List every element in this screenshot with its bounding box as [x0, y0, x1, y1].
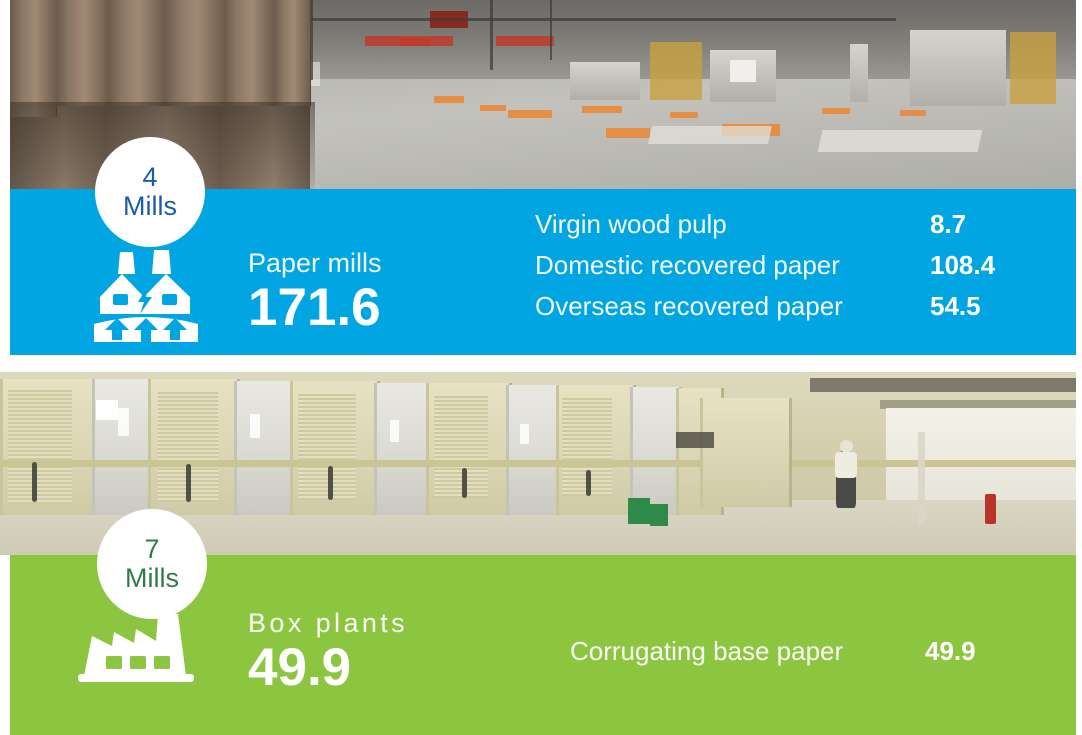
- cabinet-grille: [298, 394, 356, 500]
- stat-name: Overseas recovered paper: [535, 291, 930, 322]
- paper-roll-1: [10, 0, 57, 117]
- box-plants-headline: Box plants 49.9: [248, 608, 408, 694]
- machine-far-right: [910, 30, 1006, 106]
- cabinet-label: [118, 408, 129, 436]
- stat-value: 54.5: [930, 291, 1050, 322]
- machine-column: [850, 44, 868, 102]
- box-plants-badge: 7 Mills: [97, 509, 207, 619]
- cabinet-grille: [8, 390, 72, 503]
- paper-roll-4: [164, 0, 225, 106]
- paper-roll-2: [56, 0, 109, 106]
- wall-post: [918, 432, 925, 524]
- stat-row: Corrugating base paper 49.9: [570, 636, 1045, 676]
- floor-marker-2: [480, 105, 506, 111]
- stat-row: Overseas recovered paper 54.5: [535, 291, 1050, 332]
- roof-truss-2: [490, 0, 493, 70]
- machine-cabinet: [234, 381, 296, 515]
- cabinet-label: [250, 414, 260, 438]
- stat-value: 108.4: [930, 250, 1050, 281]
- stat-name: Corrugating base paper: [570, 636, 925, 667]
- paper-mills-headline: Paper mills 171.6: [248, 248, 382, 334]
- stat-row: Virgin wood pulp 8.7: [535, 209, 1050, 250]
- paper-roll-6: [274, 0, 311, 106]
- fire-extinguisher: [985, 494, 996, 524]
- control-box: [96, 400, 118, 420]
- machine-center: [570, 62, 640, 100]
- headline-label: Paper mills: [248, 248, 382, 279]
- paper-roll-3: [108, 0, 165, 106]
- badge-unit: Mills: [123, 192, 177, 221]
- section-box-plants: 7 Mills Box plants 49.9 Corrugati: [0, 372, 1076, 735]
- floor-marker-9: [900, 110, 926, 116]
- paper-mill-factory-icon: [90, 250, 202, 342]
- box-plants-stats: Corrugating base paper 49.9: [570, 636, 1045, 676]
- stat-name: Domestic recovered paper: [535, 250, 930, 281]
- paper-mills-stats: Virgin wood pulp 8.7 Domestic recovered …: [535, 209, 1050, 332]
- control-hose: [586, 470, 591, 496]
- machine-panel: [730, 60, 756, 82]
- headline-value: 171.6: [248, 281, 382, 334]
- machine-yellow-frame-2: [1010, 32, 1056, 104]
- section-paper-mills: 4 Mills: [0, 0, 1076, 355]
- floor-marker-5: [606, 128, 650, 138]
- machine-cabinet: [506, 385, 562, 515]
- floor-marker-1: [434, 96, 464, 103]
- machine-cabinet: [374, 383, 432, 515]
- stat-name: Virgin wood pulp: [535, 209, 930, 240]
- stat-row: Domestic recovered paper 108.4: [535, 250, 1050, 291]
- machine-cabinet: [630, 387, 682, 515]
- control-hose: [462, 468, 467, 498]
- badge-count: 4: [142, 163, 157, 192]
- machine-rail: [0, 460, 1076, 467]
- cabinet-label: [520, 424, 529, 444]
- machine-yellow-frame: [650, 42, 702, 100]
- stat-value: 49.9: [925, 636, 1045, 667]
- control-hose: [32, 462, 37, 502]
- green-bin: [628, 498, 650, 524]
- floor-marker-4: [582, 106, 622, 113]
- floor-pallet-2: [818, 130, 983, 152]
- red-banner-right: [496, 36, 554, 46]
- cabinet-grille: [434, 396, 488, 498]
- ceiling-beam: [810, 378, 1076, 392]
- headline-label: Box plants: [248, 608, 408, 639]
- green-bin: [650, 504, 668, 526]
- infographic-root: 4 Mills: [0, 0, 1082, 735]
- box-plant-factory-icon: [78, 610, 202, 682]
- floor-marker-8: [822, 108, 850, 114]
- cabinet-label: [390, 420, 399, 442]
- floor-pallet: [648, 126, 772, 144]
- voith-sign: [676, 432, 714, 448]
- stat-value: 8.7: [930, 209, 1050, 240]
- headline-value: 49.9: [248, 641, 408, 694]
- floor-marker-3: [508, 110, 552, 118]
- paper-mills-badge: 4 Mills: [95, 137, 205, 247]
- worker-shirt: [835, 452, 857, 478]
- badge-count: 7: [144, 535, 159, 564]
- paper-roll-5: [224, 0, 275, 106]
- control-hose: [328, 466, 333, 500]
- control-hose: [186, 464, 191, 502]
- badge-unit: Mills: [125, 564, 179, 593]
- yellow-rig: [700, 398, 792, 508]
- floor-marker-7: [670, 112, 698, 118]
- roof-truss-3: [550, 0, 552, 60]
- red-banner-far: [400, 38, 430, 46]
